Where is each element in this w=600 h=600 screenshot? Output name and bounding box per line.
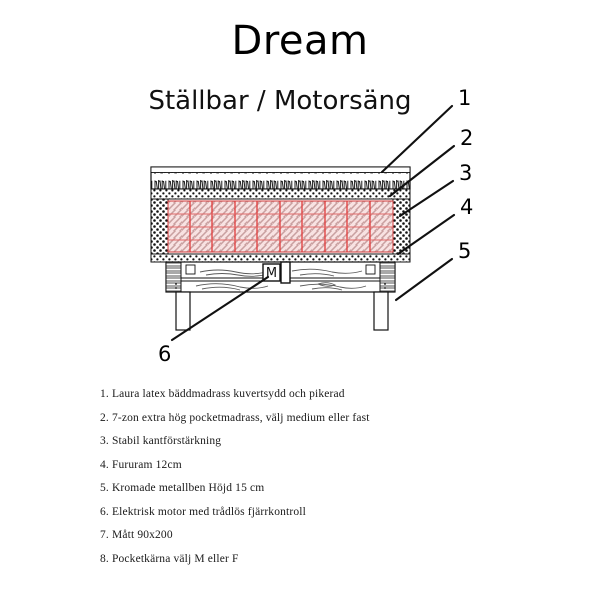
legend-item-index: 2. <box>100 412 109 424</box>
callout-number-4: 4 <box>460 197 473 218</box>
leg-left <box>176 292 190 330</box>
legend-item: 7. Mått 90x200 <box>100 529 520 541</box>
legend-item-index: 5. <box>100 482 109 494</box>
legend-item-index: 4. <box>100 459 109 471</box>
legend-item-text: 7-zon extra hög pocketmadrass, välj medi… <box>112 412 370 424</box>
legend-item: 8. Pocketkärna välj M eller F <box>100 553 520 565</box>
legend-item-index: 7. <box>100 529 109 541</box>
legend-item: 4. Fururam 12cm <box>100 459 520 471</box>
motor-assembly: M <box>263 262 290 283</box>
legend-item-text: Fururam 12cm <box>112 459 182 471</box>
layer-base-felt <box>151 254 410 262</box>
callout-number-3: 3 <box>459 163 472 184</box>
legend-item-text: Stabil kantförstärkning <box>112 435 221 447</box>
legend-list: 1. Laura latex bäddmadrass kuvertsydd oc… <box>100 388 520 576</box>
leader-line-1 <box>382 106 452 172</box>
legend-item-text: Pocketkärna välj M eller F <box>112 553 239 565</box>
legend-item-index: 1. <box>100 388 109 400</box>
layer-pocket-spring-core <box>168 201 393 252</box>
legend-item-text: Kromade metallben Höjd 15 cm <box>112 482 264 494</box>
layer-chrome-legs <box>176 292 388 330</box>
layer-latex-top-cover <box>151 167 410 189</box>
legend-item-index: 6. <box>100 506 109 518</box>
legend-item-text: Laura latex bäddmadrass kuvertsydd och p… <box>112 388 345 400</box>
legend-item-text: Elektrisk motor med trådlös fjärrkontrol… <box>112 506 306 518</box>
legend-item: 2. 7-zon extra hög pocketmadrass, välj m… <box>100 412 520 424</box>
product-diagram-page: Dream Ställbar / Motorsäng <box>0 0 600 600</box>
legend-item: 1. Laura latex bäddmadrass kuvertsydd oc… <box>100 388 520 400</box>
leader-line-5 <box>396 259 452 300</box>
motor-label: M <box>266 266 277 281</box>
legend-item: 5. Kromade metallben Höjd 15 cm <box>100 482 520 494</box>
callout-number-1: 1 <box>458 88 471 109</box>
leg-right <box>374 292 388 330</box>
legend-item: 6. Elektrisk motor med trådlös fjärrkont… <box>100 506 520 518</box>
layer-comfort-foam <box>151 189 410 199</box>
legend-item-index: 8. <box>100 553 109 565</box>
callout-number-2: 2 <box>460 128 473 149</box>
callout-number-6: 6 <box>158 344 171 365</box>
callout-number-5: 5 <box>458 241 471 262</box>
legend-item-index: 3. <box>100 435 109 447</box>
legend-item-text: Mått 90x200 <box>112 529 173 541</box>
legend-item: 3. Stabil kantförstärkning <box>100 435 520 447</box>
